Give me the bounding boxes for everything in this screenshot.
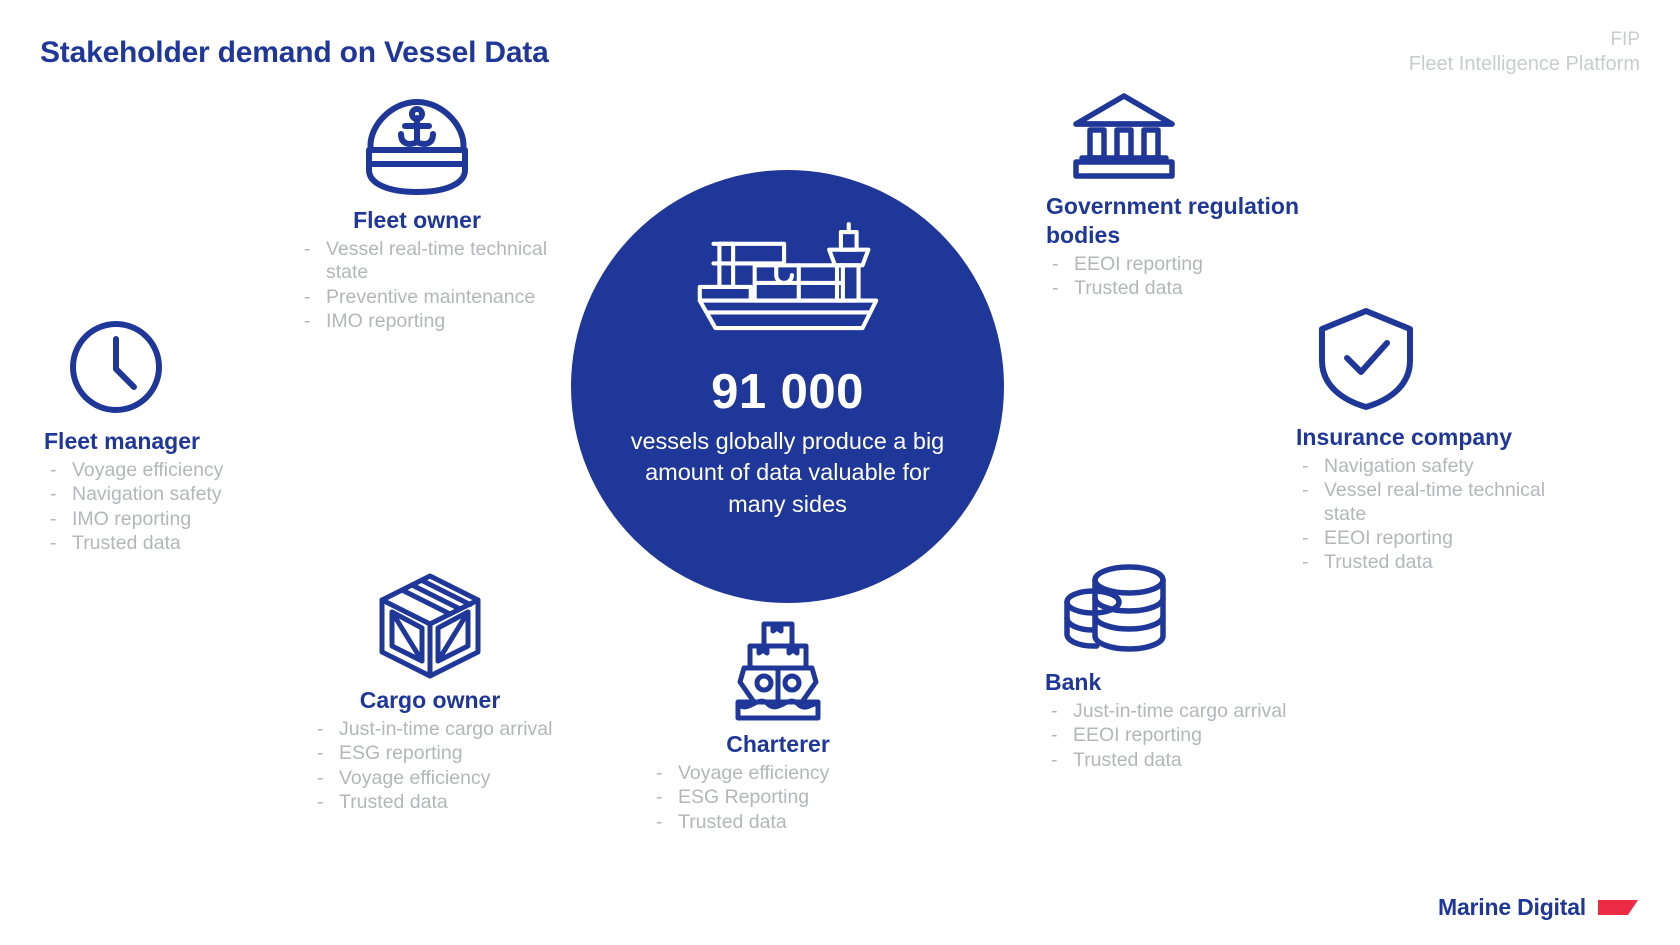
brand-abbreviation: FIP xyxy=(1409,28,1640,52)
bullet-dash: - xyxy=(304,238,326,285)
list-item: -Voyage efficiency xyxy=(50,459,319,482)
coin-stack-icon xyxy=(1059,558,1171,662)
platform-brand: FIP Fleet Intelligence Platform xyxy=(1409,28,1640,78)
bullet-text: ESG reporting xyxy=(339,742,565,765)
icon-container xyxy=(44,315,319,419)
bullet-text: Trusted data xyxy=(678,811,908,834)
list-item: -Trusted data xyxy=(50,532,319,555)
bullet-dash: - xyxy=(50,508,72,531)
list-item: -Just-in-time cargo arrival xyxy=(1051,700,1310,723)
bullet-dash: - xyxy=(50,483,72,506)
bullet-dash: - xyxy=(1302,527,1324,550)
central-big-number: 91 000 xyxy=(711,364,864,420)
bullet-text: Trusted data xyxy=(1073,749,1310,772)
icon-container xyxy=(1046,92,1306,182)
list-item: -Trusted data xyxy=(656,811,908,834)
stakeholder-cargo-owner[interactable]: Cargo owner -Just-in-time cargo arrival … xyxy=(295,570,565,815)
list-item: -ESG reporting xyxy=(317,742,565,765)
icon-container xyxy=(648,620,908,724)
bullet-text: EEOI reporting xyxy=(1073,724,1310,747)
bullet-text: Navigation safety xyxy=(72,483,319,506)
stakeholder-bullets: -Vessel real-time technical state -Preve… xyxy=(282,238,552,334)
stakeholder-bank[interactable]: Bank -Just-in-time cargo arrival -EEOI r… xyxy=(1045,558,1310,773)
bullet-text: ESG Reporting xyxy=(678,786,908,809)
stakeholder-title: Bank xyxy=(1045,668,1310,697)
stakeholder-bullets: -Voyage efficiency -Navigation safety -I… xyxy=(44,459,319,556)
marine-digital-logo: Marine Digital xyxy=(1438,894,1638,921)
bullet-text: Just-in-time cargo arrival xyxy=(339,718,565,741)
stakeholder-bullets: -Just-in-time cargo arrival -EEOI report… xyxy=(1045,700,1310,772)
central-subtitle: vessels globally produce a big amount of… xyxy=(623,426,953,520)
bullet-dash: - xyxy=(1052,253,1074,276)
container-ship-front-icon xyxy=(728,620,828,724)
bullet-dash: - xyxy=(50,532,72,555)
list-item: -Trusted data xyxy=(317,791,565,814)
stakeholder-title: Government regulation bodies xyxy=(1046,192,1306,250)
stakeholder-title: Charterer xyxy=(648,730,908,759)
bullet-dash: - xyxy=(1051,749,1073,772)
list-item: -IMO reporting xyxy=(304,310,552,333)
stakeholder-bullets: -Voyage efficiency -ESG Reporting -Trust… xyxy=(648,762,908,834)
bullet-text: IMO reporting xyxy=(326,310,552,333)
stakeholder-title: Fleet manager xyxy=(44,427,319,456)
stakeholder-bullets: -Navigation safety -Vessel real-time tec… xyxy=(1296,455,1571,575)
bullet-text: EEOI reporting xyxy=(1074,253,1306,276)
bullet-dash: - xyxy=(1051,700,1073,723)
list-item: -Voyage efficiency xyxy=(656,762,908,785)
list-item: -Vessel real-time technical state xyxy=(304,238,552,285)
bullet-text: IMO reporting xyxy=(72,508,319,531)
list-item: -EEOI reporting xyxy=(1302,527,1571,550)
list-item: -Trusted data xyxy=(1302,551,1571,574)
bullet-text: Trusted data xyxy=(72,532,319,555)
list-item: -Just-in-time cargo arrival xyxy=(317,718,565,741)
list-item: -EEOI reporting xyxy=(1051,724,1310,747)
stakeholder-insurance-company[interactable]: Insurance company -Navigation safety -Ve… xyxy=(1296,305,1571,576)
bullet-dash: - xyxy=(1302,455,1324,478)
list-item: -Navigation safety xyxy=(50,483,319,506)
brand-full-name: Fleet Intelligence Platform xyxy=(1409,52,1640,78)
stakeholder-title: Insurance company xyxy=(1296,423,1571,452)
bullet-text: Preventive maintenance xyxy=(326,286,552,309)
bullet-text: Voyage efficiency xyxy=(72,459,319,482)
bullet-dash: - xyxy=(317,742,339,765)
bullet-dash: - xyxy=(1051,724,1073,747)
bullet-dash: - xyxy=(1302,479,1324,526)
stakeholder-bullets: -Just-in-time cargo arrival -ESG reporti… xyxy=(295,718,565,815)
icon-container xyxy=(1045,558,1310,662)
list-item: -EEOI reporting xyxy=(1052,253,1306,276)
bullet-text: Vessel real-time technical state xyxy=(326,238,552,285)
list-item: -Trusted data xyxy=(1052,277,1306,300)
list-item: -ESG Reporting xyxy=(656,786,908,809)
bullet-dash: - xyxy=(656,811,678,834)
bullet-text: Trusted data xyxy=(1074,277,1306,300)
stakeholder-fleet-manager[interactable]: Fleet manager -Voyage efficiency -Naviga… xyxy=(44,315,319,556)
slide-root: Stakeholder demand on Vessel Data FIP Fl… xyxy=(0,0,1680,945)
logo-text: Marine Digital xyxy=(1438,894,1586,921)
stakeholder-fleet-owner[interactable]: Fleet owner -Vessel real-time technical … xyxy=(282,92,552,334)
list-item: -Voyage efficiency xyxy=(317,767,565,790)
bullet-text: Trusted data xyxy=(339,791,565,814)
shield-check-icon xyxy=(1314,305,1418,413)
government-building-icon xyxy=(1068,92,1180,182)
bullet-text: Voyage efficiency xyxy=(339,767,565,790)
icon-container xyxy=(282,92,552,200)
icon-container xyxy=(1296,305,1571,413)
cargo-ship-icon xyxy=(690,222,886,342)
bullet-dash: - xyxy=(1052,277,1074,300)
captain-hat-icon xyxy=(353,92,481,200)
bullet-text: Just-in-time cargo arrival xyxy=(1073,700,1310,723)
clock-icon xyxy=(64,315,168,419)
bullet-text: Vessel real-time technical state xyxy=(1324,479,1571,526)
bullet-dash: - xyxy=(656,786,678,809)
icon-container xyxy=(295,570,565,682)
list-item: -Trusted data xyxy=(1051,749,1310,772)
bullet-text: Voyage efficiency xyxy=(678,762,908,785)
stakeholder-charterer[interactable]: Charterer -Voyage efficiency -ESG Report… xyxy=(648,620,908,835)
bullet-dash: - xyxy=(656,762,678,785)
bullet-dash: - xyxy=(317,791,339,814)
page-title: Stakeholder demand on Vessel Data xyxy=(40,36,549,70)
list-item: -Vessel real-time technical state xyxy=(1302,479,1571,526)
bullet-dash: - xyxy=(304,286,326,309)
cargo-crate-icon xyxy=(374,570,486,682)
central-stat-circle: 91 000 vessels globally produce a big am… xyxy=(571,170,1004,603)
list-item: -Preventive maintenance xyxy=(304,286,552,309)
stakeholder-bullets: -EEOI reporting -Trusted data xyxy=(1046,253,1306,301)
stakeholder-title: Fleet owner xyxy=(282,206,552,235)
bullet-dash: - xyxy=(317,767,339,790)
stakeholder-title: Cargo owner xyxy=(295,686,565,715)
bullet-dash: - xyxy=(317,718,339,741)
bullet-dash: - xyxy=(50,459,72,482)
bullet-text: Trusted data xyxy=(1324,551,1571,574)
list-item: -IMO reporting xyxy=(50,508,319,531)
bullet-text: EEOI reporting xyxy=(1324,527,1571,550)
stakeholder-government-regulation-bodies[interactable]: Government regulation bodies -EEOI repor… xyxy=(1046,92,1306,301)
bullet-text: Navigation safety xyxy=(1324,455,1571,478)
red-hull-mark-icon xyxy=(1598,898,1638,917)
list-item: -Navigation safety xyxy=(1302,455,1571,478)
